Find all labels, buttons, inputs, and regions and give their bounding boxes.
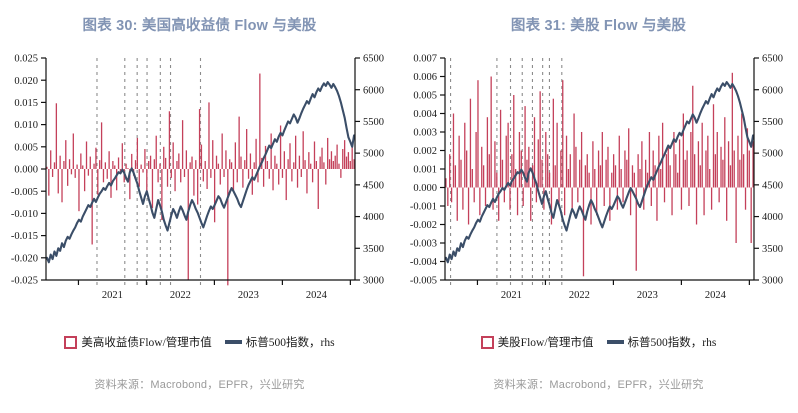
y-axis-right-tick-label: 3500	[762, 244, 783, 255]
bar	[316, 161, 317, 169]
bar	[517, 188, 518, 216]
legend-square-icon	[481, 336, 494, 349]
bar	[97, 169, 98, 195]
y-axis-right-tick-label: 5000	[363, 149, 384, 160]
bar	[472, 169, 473, 188]
bar	[588, 173, 589, 188]
bar	[637, 154, 638, 187]
bar	[242, 169, 243, 188]
bar	[611, 173, 612, 188]
bar	[165, 158, 166, 169]
bar	[69, 159, 70, 169]
bar	[598, 151, 599, 188]
bar	[103, 169, 104, 182]
bar	[621, 169, 622, 188]
bar	[568, 169, 569, 188]
chart-area-30: 0.0250.0200.0150.0100.0050.000-0.005-0.0…	[0, 50, 399, 318]
bar	[692, 86, 693, 188]
chart-legend-31: 美股Flow/管理市值 标普500指数，rhs	[399, 334, 798, 350]
bar	[218, 164, 219, 169]
bar	[575, 147, 576, 188]
bar	[84, 169, 85, 191]
bar	[278, 169, 279, 185]
bar	[628, 128, 629, 187]
bar	[481, 147, 482, 188]
bar	[303, 131, 304, 169]
bar	[600, 165, 601, 187]
bar	[238, 117, 239, 169]
x-axis-tick-label: 2024	[705, 290, 727, 301]
bar	[142, 169, 143, 173]
bar	[329, 159, 330, 169]
bar	[186, 150, 187, 169]
bar	[656, 188, 657, 221]
bar	[184, 169, 185, 177]
bar	[229, 159, 230, 169]
x-axis-tick-label: 2021	[102, 290, 123, 301]
y-axis-left-tick-label: 0.007	[413, 54, 437, 65]
bar	[331, 151, 332, 169]
bar	[250, 153, 251, 169]
bar	[125, 164, 126, 169]
x-axis-tick-label: 2024	[306, 290, 328, 301]
y-axis-right-tick-label: 5000	[762, 149, 783, 160]
bar	[105, 162, 106, 169]
bar	[75, 169, 76, 178]
bar	[225, 150, 226, 169]
bar	[685, 160, 686, 188]
bar	[494, 141, 495, 187]
bar	[555, 165, 556, 187]
bar	[139, 169, 140, 187]
bar	[507, 123, 508, 188]
bar	[301, 169, 302, 177]
bar	[615, 165, 616, 187]
bar	[724, 117, 725, 187]
bar	[509, 188, 510, 210]
bar	[178, 153, 179, 169]
bar	[705, 151, 706, 188]
figure-title-30: 图表 30: 美国高收益债 Flow 与美股	[0, 14, 399, 35]
x-axis-tick-label: 2022	[170, 290, 191, 301]
bar	[235, 142, 236, 169]
bar	[86, 141, 87, 169]
bar	[159, 164, 160, 169]
bar	[58, 169, 59, 193]
bar	[664, 188, 665, 203]
bar	[323, 162, 324, 169]
bar	[352, 147, 353, 169]
y-axis-left-tick-label: 0.010	[14, 120, 38, 131]
bar	[205, 161, 206, 169]
y-axis-left-tick-label: 0.020	[14, 76, 38, 87]
bar	[713, 104, 714, 187]
bar	[122, 143, 123, 169]
bar	[703, 188, 704, 216]
bar	[619, 136, 620, 188]
bar	[212, 140, 213, 169]
bar	[308, 152, 309, 169]
x-axis-tick-label: 2023	[238, 290, 259, 301]
bar	[658, 136, 659, 188]
bar	[150, 156, 151, 169]
y-axis-left-tick-label: -0.005	[410, 276, 437, 287]
y-axis-right-tick-label: 3000	[762, 276, 783, 287]
bar	[282, 169, 283, 178]
bar	[720, 147, 721, 188]
bar	[653, 151, 654, 188]
bar	[237, 169, 238, 182]
bar	[737, 136, 738, 188]
bar	[560, 151, 561, 188]
legend-line-icon	[607, 340, 624, 344]
bar	[515, 169, 516, 188]
bar	[479, 188, 480, 216]
bar	[547, 154, 548, 187]
bar	[59, 156, 60, 169]
bar	[688, 188, 689, 207]
bar	[641, 141, 642, 187]
bar	[222, 133, 223, 169]
bar	[668, 147, 669, 188]
y-axis-left-tick-label: 0.006	[413, 72, 437, 83]
y-axis-left-tick-label: 0.025	[14, 54, 38, 65]
figure-title-31: 图表 31: 美股 Flow 与美股	[399, 14, 798, 35]
bar	[718, 188, 719, 203]
y-axis-left-tick-label: 0.015	[14, 98, 38, 109]
bar	[466, 151, 467, 188]
y-axis-left-tick-label: 0.005	[413, 91, 437, 102]
bar	[549, 173, 550, 188]
legend-item-index: 标普500指数，rhs	[225, 334, 335, 350]
bar	[728, 141, 729, 187]
bar	[189, 162, 190, 169]
bar	[201, 145, 202, 169]
bar	[634, 173, 635, 188]
bar	[739, 160, 740, 188]
bar	[741, 114, 742, 188]
bar	[195, 160, 196, 169]
bar	[173, 142, 174, 169]
bar	[541, 160, 542, 188]
bar	[240, 157, 241, 169]
bar	[199, 109, 200, 169]
bar	[698, 141, 699, 187]
bar	[231, 162, 232, 169]
bar	[271, 133, 272, 169]
bar	[286, 169, 287, 200]
bar	[592, 141, 593, 187]
bar	[216, 156, 217, 169]
bar	[135, 160, 136, 169]
bar	[594, 169, 595, 188]
y-axis-left-tick-label: 0.005	[14, 142, 38, 153]
bar	[233, 169, 234, 191]
bar	[502, 160, 503, 188]
bar	[583, 188, 584, 277]
bar	[528, 147, 529, 188]
y-axis-left-tick-label: -0.015	[11, 231, 38, 242]
chart-area-31: 0.0070.0060.0050.0040.0030.0020.0010.000…	[399, 50, 798, 318]
bar	[735, 188, 736, 244]
y-axis-left-tick-label: 0.000	[413, 183, 437, 194]
bar	[101, 122, 102, 169]
bar	[210, 169, 211, 178]
bar	[483, 165, 484, 187]
bar	[645, 160, 646, 188]
bar	[336, 145, 337, 169]
bar	[90, 157, 91, 169]
bar	[255, 139, 256, 169]
bar	[346, 157, 347, 169]
bar	[726, 188, 727, 221]
bar	[513, 95, 514, 188]
y-axis-right-tick-label: 3000	[363, 276, 384, 287]
y-axis-right-tick-label: 4000	[363, 212, 384, 223]
y-axis-right-tick-label: 6000	[762, 85, 783, 96]
bar	[227, 169, 228, 285]
bar	[48, 169, 49, 196]
y-axis-left-tick-label: -0.025	[11, 276, 38, 287]
bar	[457, 188, 458, 221]
bar	[749, 151, 750, 188]
y-axis-left-tick-label: -0.002	[410, 220, 437, 231]
y-axis-left-tick-label: 0.002	[413, 146, 437, 157]
y-axis-right-tick-label: 6000	[363, 85, 384, 96]
bar	[666, 154, 667, 187]
bar	[545, 132, 546, 188]
bar	[462, 188, 463, 210]
bar	[587, 154, 588, 187]
bar	[581, 132, 582, 188]
bar	[468, 188, 469, 225]
bar	[152, 169, 153, 208]
bar	[464, 123, 465, 188]
bar	[176, 161, 177, 169]
bar	[613, 154, 614, 187]
y-axis-left-tick-label: -0.020	[11, 253, 38, 264]
bar	[80, 153, 81, 169]
bar	[193, 169, 194, 196]
y-axis-right-tick-label: 6500	[363, 54, 384, 65]
bar	[293, 162, 294, 169]
bar	[639, 169, 640, 188]
bar	[564, 188, 565, 216]
bar	[451, 188, 452, 203]
bar	[474, 188, 475, 203]
legend-square-icon	[64, 336, 77, 349]
y-axis-right-tick-label: 5500	[762, 117, 783, 128]
bar	[572, 188, 573, 210]
y-axis-left-tick-label: -0.003	[410, 239, 437, 250]
bar	[686, 151, 687, 188]
bar	[325, 169, 326, 185]
bar	[73, 133, 74, 169]
bar	[696, 188, 697, 225]
legend-item-flow: 美股Flow/管理市值	[481, 334, 594, 350]
bar	[743, 154, 744, 187]
bar	[127, 168, 128, 169]
bar	[252, 169, 253, 195]
bar	[553, 99, 554, 188]
bar	[304, 160, 305, 169]
bar	[52, 169, 53, 177]
bar	[690, 132, 691, 188]
bar	[677, 173, 678, 188]
bar	[171, 169, 172, 178]
bar	[148, 161, 149, 169]
bar	[327, 138, 328, 169]
legend-item-flow: 美高收益债Flow/管理市值	[64, 334, 211, 350]
bar	[93, 164, 94, 169]
bar	[206, 169, 207, 189]
bar	[203, 169, 204, 181]
y-axis-right-tick-label: 4000	[762, 212, 783, 223]
bar	[112, 161, 113, 169]
bar	[276, 164, 277, 169]
bar	[506, 136, 507, 188]
bar	[146, 169, 147, 192]
bar	[523, 188, 524, 207]
bar	[570, 154, 571, 187]
bar	[310, 164, 311, 169]
bar	[675, 154, 676, 187]
y-axis-left-tick-label: 0.003	[413, 128, 437, 139]
y-axis-left-tick-label: 0.001	[413, 165, 437, 176]
bar	[453, 114, 454, 188]
bar	[711, 188, 712, 210]
y-axis-right-tick-label: 4500	[762, 180, 783, 191]
bar	[78, 169, 79, 211]
bar	[700, 165, 701, 187]
bar	[263, 169, 264, 187]
y-axis-right-tick-label: 6500	[762, 54, 783, 65]
bar	[88, 169, 89, 176]
bar	[500, 110, 501, 188]
y-axis-left-tick-label: -0.004	[410, 257, 438, 268]
bar	[259, 74, 260, 169]
bar	[707, 136, 708, 188]
bar	[188, 169, 189, 280]
bar	[745, 188, 746, 210]
bar	[651, 188, 652, 207]
bar	[602, 132, 603, 188]
bar	[144, 149, 145, 169]
bar	[671, 188, 672, 216]
bar	[333, 161, 334, 169]
bar	[67, 169, 68, 186]
bar	[605, 160, 606, 188]
figure-source-30: 资料来源：Macrobond，EPFR，兴业研究	[0, 376, 399, 392]
bar	[306, 169, 307, 193]
bar	[530, 188, 531, 221]
bar	[458, 136, 459, 188]
bar	[519, 132, 520, 188]
bar	[163, 147, 164, 169]
bar	[590, 188, 591, 225]
bar	[156, 136, 157, 169]
legend-label-index: 标普500指数，rhs	[246, 334, 335, 350]
y-axis-right-tick-label: 5500	[363, 117, 384, 128]
bar	[65, 140, 66, 169]
bar	[63, 161, 64, 169]
bar	[208, 102, 209, 169]
bar	[244, 160, 245, 169]
bar	[460, 160, 461, 188]
bar	[197, 169, 198, 205]
bar	[566, 136, 567, 188]
bar	[335, 156, 336, 169]
bar	[54, 162, 55, 169]
figure-page: 图表 30: 美国高收益债 Flow 与美股 0.0250.0200.0150.…	[0, 0, 798, 413]
bar	[287, 159, 288, 169]
bar	[182, 120, 183, 169]
bar	[274, 156, 275, 169]
legend-label-index: 标普500指数，rhs	[628, 334, 717, 350]
legend-label-flow: 美股Flow/管理市值	[498, 334, 594, 350]
y-axis-left-tick-label: -0.005	[11, 187, 38, 198]
bar	[267, 161, 268, 169]
y-axis-right-tick-label: 4500	[363, 180, 384, 191]
bar	[71, 169, 72, 174]
bar	[291, 169, 292, 181]
bar	[348, 152, 349, 169]
figure-panel-30: 图表 30: 美国高收益债 Flow 与美股 0.0250.0200.0150.…	[0, 0, 399, 413]
bar	[116, 169, 117, 190]
bar	[321, 148, 322, 169]
bar	[470, 99, 471, 188]
bar	[191, 157, 192, 169]
bar	[496, 173, 497, 188]
bar	[114, 165, 115, 169]
x-axis-tick-label: 2021	[501, 290, 522, 301]
bar	[585, 165, 586, 187]
bar	[154, 159, 155, 169]
bar	[556, 123, 557, 188]
bar	[220, 169, 221, 185]
bar	[449, 154, 450, 187]
bar	[108, 151, 109, 169]
bar	[491, 77, 492, 188]
bar	[61, 169, 62, 202]
bar	[223, 169, 224, 177]
x-axis-tick-label: 2022	[569, 290, 590, 301]
bar	[312, 169, 313, 182]
bar	[607, 147, 608, 188]
bar	[538, 139, 539, 187]
bar	[732, 73, 733, 188]
bar	[487, 117, 488, 187]
bar	[340, 169, 341, 178]
bar	[702, 123, 703, 188]
bar	[95, 148, 96, 169]
bar	[56, 103, 57, 169]
bar	[99, 160, 100, 169]
bar	[722, 160, 723, 188]
bar	[169, 111, 170, 169]
bar	[118, 157, 119, 169]
bar	[318, 169, 319, 209]
bar	[624, 151, 625, 188]
y-axis-left-tick-label: -0.010	[11, 209, 38, 220]
bar	[314, 141, 315, 169]
bar	[447, 188, 448, 207]
bar	[214, 169, 215, 222]
bar	[344, 140, 345, 169]
bar	[734, 151, 735, 188]
bar	[167, 169, 168, 187]
bar	[299, 156, 300, 169]
